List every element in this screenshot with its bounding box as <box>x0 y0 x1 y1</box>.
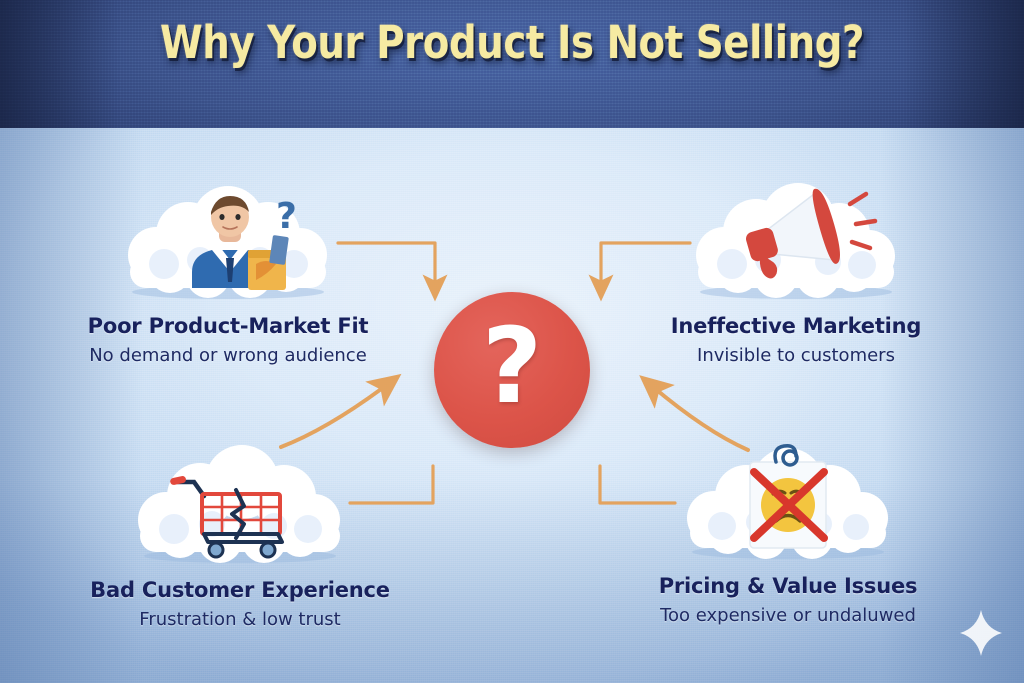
quadrant-subtitle: Too expensive or undaluwed <box>588 605 988 626</box>
label-group: Poor Product-Market Fit No demand or wro… <box>28 314 428 366</box>
illustration-area <box>40 424 440 574</box>
crossed-out-sad-price-tag-icon <box>668 420 908 570</box>
megaphone-icon <box>676 160 916 310</box>
label-group: Ineffective Marketing Invisible to custo… <box>596 314 996 366</box>
quadrant-ineffective-marketing[interactable]: Ineffective Marketing Invisible to custo… <box>596 160 996 366</box>
quadrant-pricing-value-issues[interactable]: Pricing & Value Issues Too expensive or … <box>588 420 988 626</box>
svg-text:?: ? <box>276 196 297 237</box>
broken-shopping-cart-icon <box>120 424 360 574</box>
label-group: Pricing & Value Issues Too expensive or … <box>588 574 988 626</box>
label-group: Bad Customer Experience Frustration & lo… <box>40 578 440 630</box>
illustration-area: ? <box>28 160 428 310</box>
quadrant-title: Pricing & Value Issues <box>588 574 988 598</box>
page-title: Why Your Product Is Not Selling? <box>72 16 953 69</box>
quadrant-title: Poor Product-Market Fit <box>28 314 428 338</box>
title-banner: Why Your Product Is Not Selling? <box>0 0 1024 128</box>
quadrant-subtitle: No demand or wrong audience <box>28 345 428 366</box>
hub-question-mark: ? <box>434 292 590 448</box>
quadrant-bad-customer-experience[interactable]: Bad Customer Experience Frustration & lo… <box>40 424 440 630</box>
central-question-hub: ? <box>434 292 590 448</box>
businessman-with-product-box-question-icon: ? <box>108 160 348 310</box>
infographic-poster: Why Your Product Is Not Selling? <box>0 0 1024 683</box>
quadrant-title: Bad Customer Experience <box>40 578 440 602</box>
four-point-star-sparkle-icon <box>958 608 1004 658</box>
quadrant-subtitle: Frustration & low trust <box>40 609 440 630</box>
illustration-area <box>588 420 988 570</box>
quadrant-subtitle: Invisible to customers <box>596 345 996 366</box>
quadrant-poor-product-market-fit[interactable]: ? Poor Product-Market Fit No demand or w… <box>28 160 428 366</box>
quadrant-title: Ineffective Marketing <box>596 314 996 338</box>
illustration-area <box>596 160 996 310</box>
